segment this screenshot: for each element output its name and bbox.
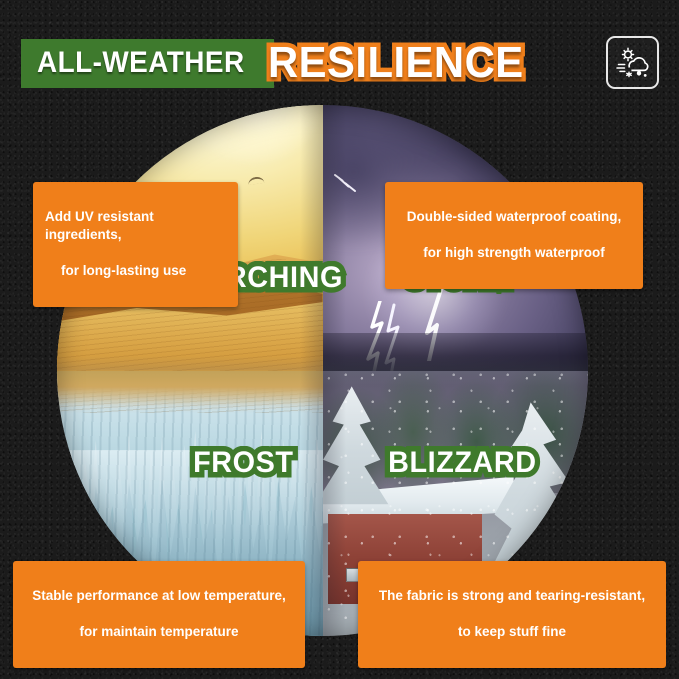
caption-line-1: The fabric is strong and tearing-resista… [370,587,654,605]
caption-line-1: Double-sided waterproof coating, [397,208,631,226]
title-all-weather: ALL-WEATHER [37,46,245,80]
storm-treeline [323,333,589,370]
title-resilience: RESILIENCE [268,38,524,88]
caption-line-2: for maintain temperature [25,623,293,641]
title-green-block: ALL-WEATHER [21,39,274,88]
mixed-weather-icon [606,36,659,89]
caption-line-2: for high strength waterproof [397,244,631,262]
label-frost: FROST [193,446,293,480]
lightning-bolt-icon [333,169,371,195]
caption-line-2: to keep stuff fine [370,623,654,641]
caption-storm: Double-sided waterproof coating, for hig… [385,182,643,289]
caption-line-1: Add UV resistant ingredients, [45,208,226,244]
caption-line-1: Stable performance at low temperature, [25,587,293,605]
caption-frost: Stable performance at low temperature, f… [13,561,305,668]
label-blizzard: BLIZZARD [388,446,537,480]
caption-line-2: for long-lasting use [45,262,226,280]
sand-to-ice-blend [57,371,323,413]
caption-blizzard: The fabric is strong and tearing-resista… [358,561,666,668]
header-banner: ALL-WEATHER RESILIENCE [21,34,659,92]
caption-scorching: Add UV resistant ingredients, for long-l… [33,182,238,307]
